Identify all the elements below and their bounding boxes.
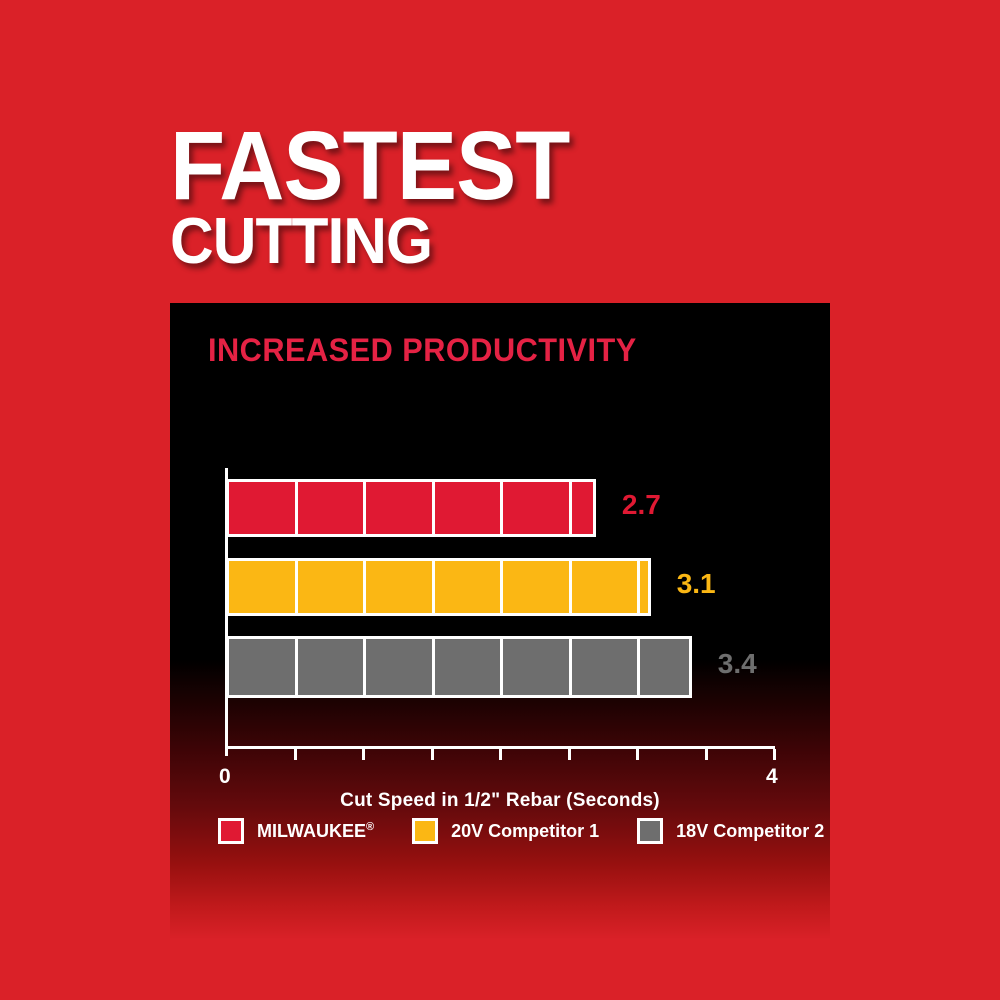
bar-0 (226, 479, 596, 537)
bar-segment (640, 639, 689, 695)
bar-row: 3.1 (226, 558, 774, 616)
x-tick-2-5 (568, 749, 571, 760)
bar-segment (572, 639, 641, 695)
bar-segment (503, 482, 572, 534)
bar-segment (435, 482, 504, 534)
legend-item-2: 18V Competitor 2 (637, 818, 824, 844)
bar-segment (435, 639, 504, 695)
bar-value-label-0: 2.7 (622, 489, 661, 521)
x-axis-title: Cut Speed in 1/2" Rebar (Seconds) (170, 790, 830, 812)
bar-segment (572, 482, 593, 534)
x-tick-3-5 (705, 749, 708, 760)
bar-2 (226, 636, 692, 698)
bar-segment (229, 639, 298, 695)
bar-segment (503, 561, 572, 613)
x-tick-0 (225, 740, 228, 756)
x-tick-3 (636, 749, 639, 760)
bar-value-label-2: 3.4 (718, 648, 757, 680)
x-tick-1-5 (431, 749, 434, 760)
chart-legend: MILWAUKEE®20V Competitor 118V Competitor… (218, 818, 818, 844)
bar-segment (298, 561, 367, 613)
x-tick-0-5 (294, 749, 297, 760)
bar-segment (503, 639, 572, 695)
legend-item-1: 20V Competitor 1 (412, 818, 599, 844)
legend-label-1: 20V Competitor 1 (451, 821, 599, 842)
legend-swatch-2 (637, 818, 663, 844)
bar-segment (229, 482, 298, 534)
chart-panel: INCREASED PRODUCTIVITY 2.73.13.4 0 4 Cut… (170, 303, 830, 940)
bar-segment (298, 482, 367, 534)
legend-swatch-0 (218, 818, 244, 844)
bar-1 (226, 558, 651, 616)
legend-item-0: MILWAUKEE® (218, 818, 374, 844)
legend-label-2: 18V Competitor 2 (676, 821, 824, 842)
legend-swatch-1 (412, 818, 438, 844)
bar-segment (572, 561, 641, 613)
x-axis-min-label: 0 (219, 765, 231, 789)
legend-label-0: MILWAUKEE® (257, 821, 374, 842)
headline-block: FASTEST CUTTING (170, 124, 870, 269)
bar-segment (298, 639, 367, 695)
bar-segment (366, 561, 435, 613)
headline-line-1: FASTEST (170, 124, 821, 207)
bar-segment (229, 561, 298, 613)
bar-segment (366, 482, 435, 534)
bar-segment (640, 561, 648, 613)
bar-segment (435, 561, 504, 613)
x-tick-4 (773, 749, 776, 760)
plot-area: 2.73.13.4 0 4 Cut Speed in 1/2" Rebar (S… (170, 303, 830, 940)
headline-line-2: CUTTING (170, 213, 821, 269)
bar-segment (366, 639, 435, 695)
bar-row: 2.7 (226, 479, 774, 537)
x-tick-2 (499, 749, 502, 760)
x-axis-max-label: 4 (766, 765, 778, 789)
bar-row: 3.4 (226, 636, 774, 698)
bar-value-label-1: 3.1 (677, 568, 716, 600)
x-tick-1 (362, 749, 365, 760)
